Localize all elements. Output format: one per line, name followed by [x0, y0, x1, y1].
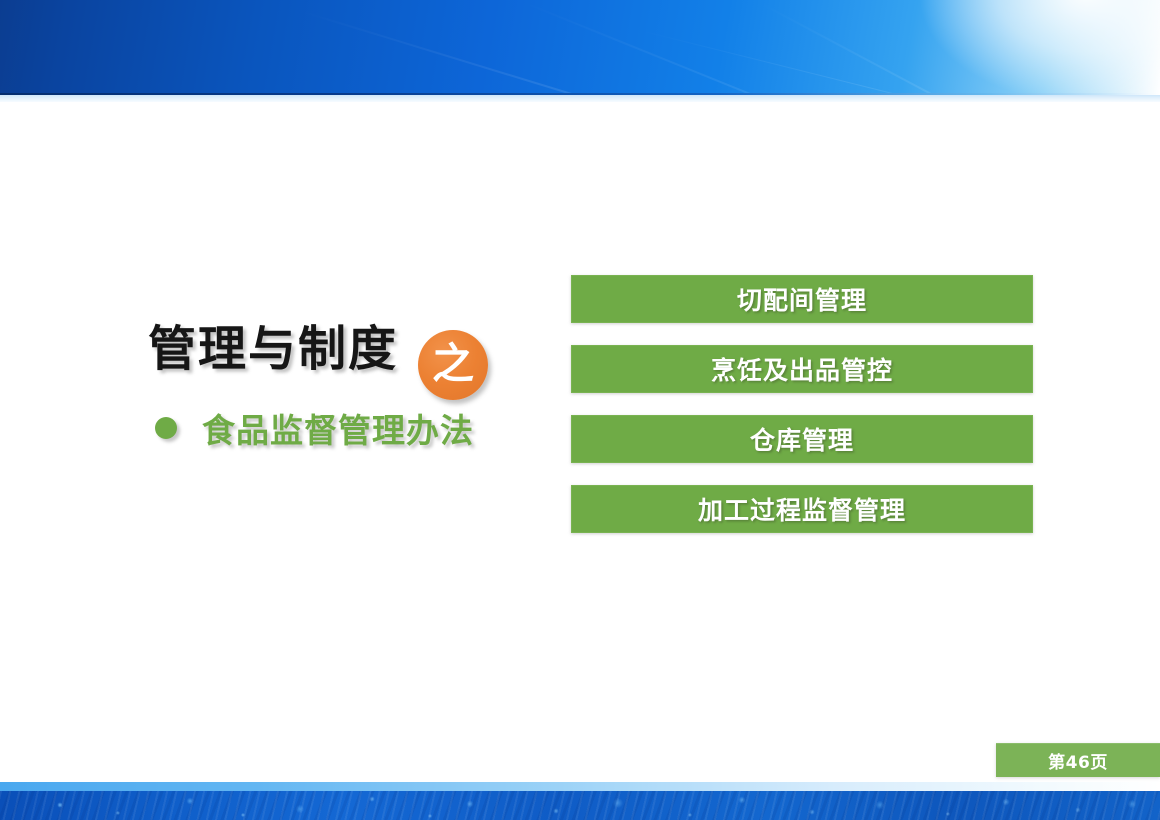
topic-box-2-label: 烹饪及出品管控 [711, 351, 893, 387]
banner-light-stripe [0, 95, 1160, 102]
topic-box-1-label: 切配间管理 [737, 281, 867, 317]
orange-circle-badge: 之 [418, 330, 488, 400]
topic-box-4[interactable]: 加工过程监督管理 [571, 485, 1033, 533]
topic-box-2[interactable]: 烹饪及出品管控 [571, 345, 1033, 393]
topic-box-list: 切配间管理 烹饪及出品管控 仓库管理 加工过程监督管理 [571, 275, 1031, 533]
slide-title: 管理与制度 [148, 324, 548, 374]
top-banner-decoration [0, 0, 1160, 93]
topic-box-3-label: 仓库管理 [750, 421, 854, 457]
slide-subtitle: 食品监督管理办法 [202, 404, 474, 452]
topic-box-1[interactable]: 切配间管理 [571, 275, 1033, 323]
bullet-dot-icon [155, 417, 177, 439]
banner-streak-3 [640, 30, 1106, 147]
orange-badge-char: 之 [432, 343, 474, 385]
banner-streak-2 [520, 0, 1096, 234]
page-number-label: 第46页 [1048, 748, 1108, 773]
bottom-light-stripe [0, 782, 1160, 791]
slide-canvas: 管理与制度 之 食品监督管理办法 切配间管理 烹饪及出品管控 仓库管理 加工过程… [0, 0, 1160, 820]
bottom-textured-band [0, 791, 1160, 820]
page-number-badge: 第46页 [996, 743, 1160, 777]
topic-box-3[interactable]: 仓库管理 [571, 415, 1033, 463]
subtitle-row: 食品监督管理办法 [155, 404, 474, 452]
topic-box-4-label: 加工过程监督管理 [698, 491, 906, 527]
title-block: 管理与制度 [148, 324, 548, 374]
